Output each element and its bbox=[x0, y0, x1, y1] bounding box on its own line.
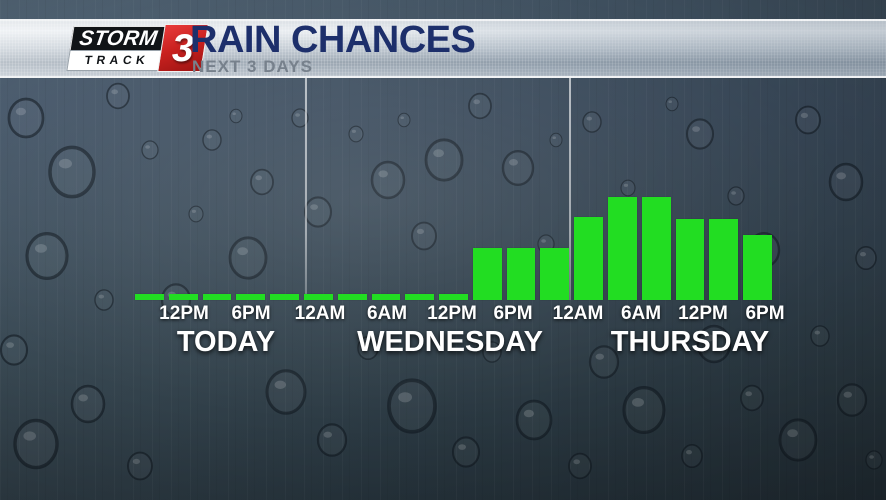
bar bbox=[743, 235, 772, 300]
bar-series bbox=[0, 78, 886, 310]
storm-track-3-logo: STORM TRACK 3 bbox=[70, 24, 205, 72]
time-tick-label: 12AM bbox=[553, 303, 604, 325]
logo-text-block: STORM TRACK bbox=[66, 24, 167, 72]
bar bbox=[709, 219, 738, 300]
bar bbox=[507, 248, 536, 300]
bar bbox=[372, 294, 401, 300]
time-tick-label: 12PM bbox=[427, 303, 477, 325]
bar bbox=[270, 294, 299, 300]
bar bbox=[169, 294, 198, 300]
day-group-label: WEDNESDAY bbox=[357, 326, 543, 359]
time-tick-label: 12PM bbox=[159, 303, 209, 325]
bar bbox=[540, 248, 569, 300]
day-group-label: TODAY bbox=[177, 326, 275, 359]
bar bbox=[608, 197, 637, 300]
time-tick-label: 12AM bbox=[295, 303, 346, 325]
time-tick-label: 6PM bbox=[231, 303, 270, 325]
time-tick-label: 6AM bbox=[367, 303, 407, 325]
logo-storm-text: STORM bbox=[70, 26, 167, 50]
bar bbox=[203, 294, 232, 300]
page-title: RAIN CHANCES bbox=[190, 20, 475, 60]
bar bbox=[574, 217, 603, 300]
day-group-label: THURSDAY bbox=[611, 326, 769, 359]
time-axis: 12PM6PM12AM6AM12PM6PM12AM6AM12PM6PM bbox=[0, 303, 886, 327]
bar bbox=[405, 294, 434, 300]
bar bbox=[676, 219, 705, 300]
time-tick-label: 6PM bbox=[493, 303, 532, 325]
page-subtitle: NEXT 3 DAYS bbox=[192, 58, 313, 76]
logo-track-text: TRACK bbox=[66, 50, 162, 71]
bar bbox=[439, 294, 468, 300]
weather-graphic: 12PM6PM12AM6AM12PM6PM12AM6AM12PM6PM TODA… bbox=[0, 0, 886, 500]
bar bbox=[642, 197, 671, 300]
day-axis: TODAYWEDNESDAYTHURSDAY bbox=[0, 326, 886, 360]
bar bbox=[338, 294, 367, 300]
bar bbox=[236, 294, 265, 300]
time-tick-label: 6PM bbox=[745, 303, 784, 325]
time-tick-label: 6AM bbox=[621, 303, 661, 325]
bar bbox=[304, 294, 333, 300]
time-tick-label: 12PM bbox=[678, 303, 728, 325]
bar bbox=[473, 248, 502, 300]
rain-chance-chart bbox=[0, 78, 886, 310]
bar bbox=[135, 294, 164, 300]
